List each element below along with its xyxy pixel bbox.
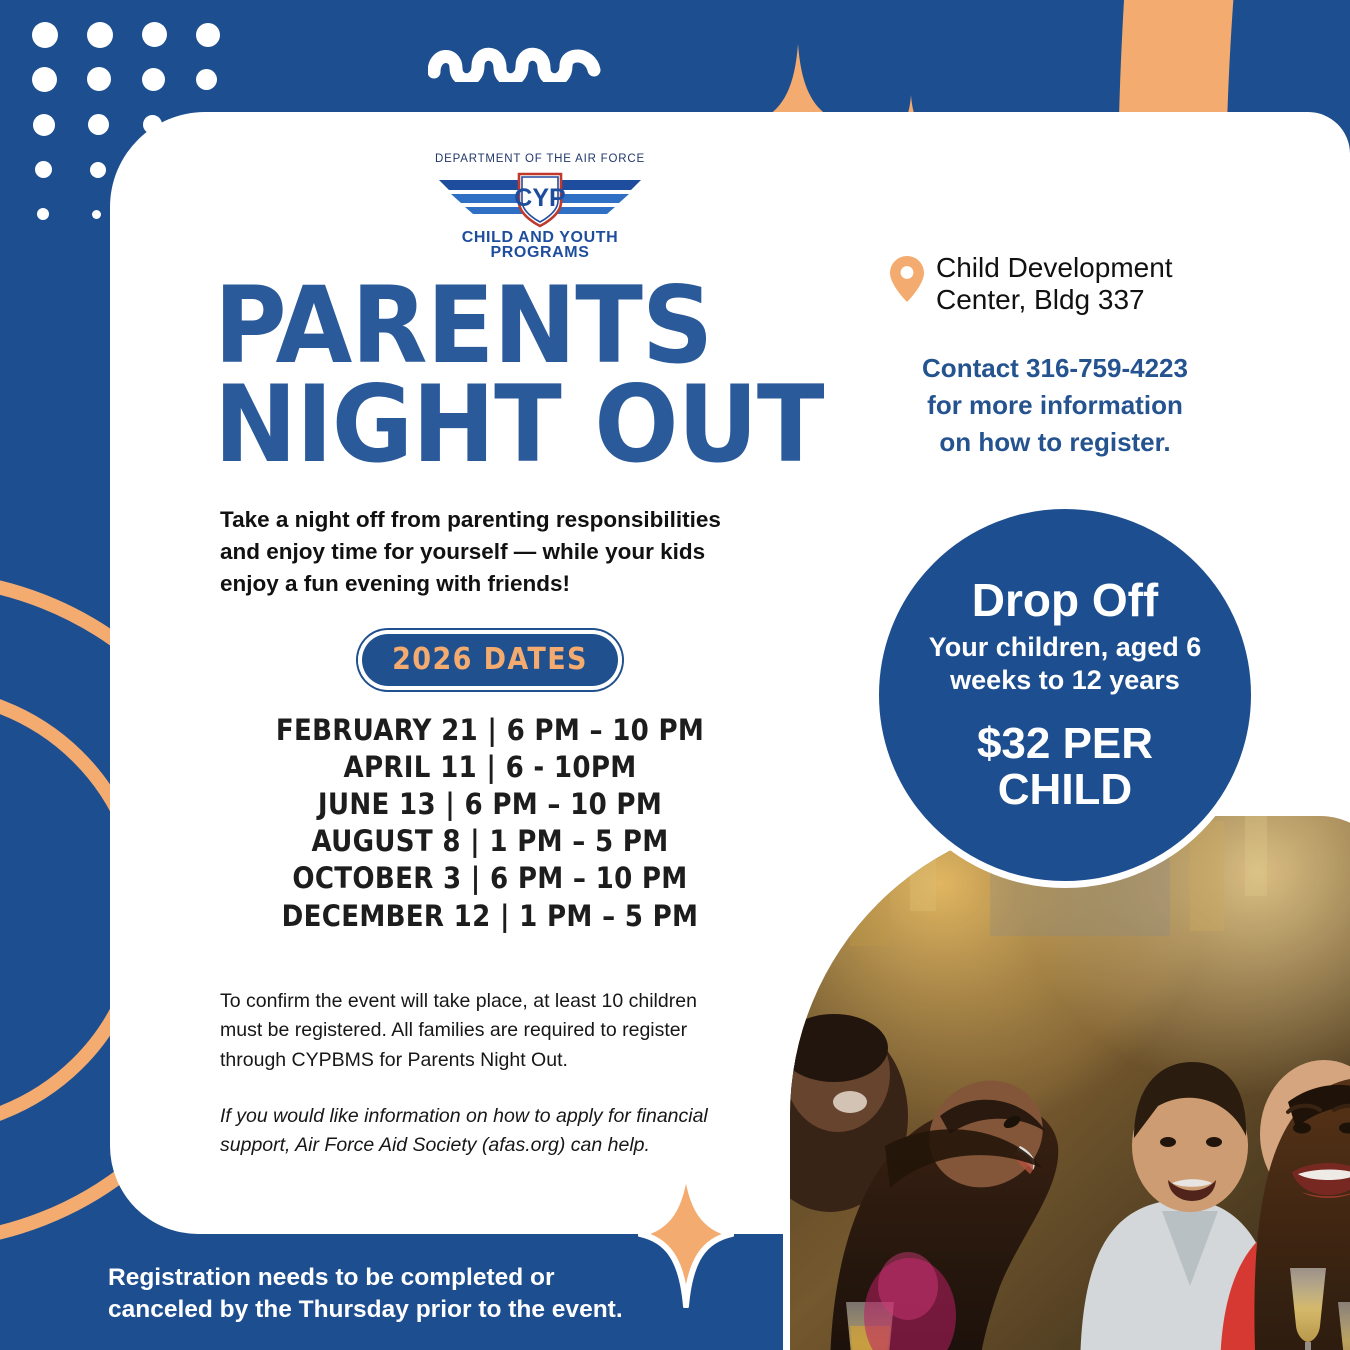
- list-item: FEBRUARY 21 | 6 PM – 10 PM: [210, 712, 770, 749]
- registration-footer: Registration needs to be completed or ca…: [108, 1262, 728, 1326]
- logo-bottom-line-2: PROGRAMS: [490, 244, 589, 258]
- contact-block: Contact 316-759-4223 for more informatio…: [890, 350, 1220, 462]
- logo-monogram: CYP: [514, 184, 565, 212]
- drop-off-title: Drop Off: [972, 577, 1159, 623]
- headline-line-2: NIGHT OUT: [214, 376, 896, 475]
- squiggle-icon: [428, 44, 604, 87]
- list-item: DECEMBER 12 | 1 PM – 5 PM: [210, 898, 770, 935]
- list-item: AUGUST 8 | 1 PM – 5 PM: [210, 823, 770, 860]
- drop-off-badge: Drop Off Your children, aged 6 weeks to …: [872, 502, 1258, 888]
- location-line-2: Center, Bldg 337: [936, 284, 1145, 315]
- confirmation-note: To confirm the event will take place, at…: [220, 987, 740, 1076]
- left-column: DEPARTMENT OF THE AIR FORCE CYP CHILD AN…: [210, 150, 870, 1161]
- financial-support-note: If you would like information on how to …: [220, 1102, 740, 1161]
- drop-off-price-line-2: CHILD: [977, 767, 1153, 813]
- drop-off-subtitle-line-2: weeks to 12 years: [905, 664, 1225, 697]
- page-title: PARENTS NIGHT OUT: [214, 277, 896, 474]
- list-item: OCTOBER 3 | 6 PM – 10 PM: [210, 860, 770, 897]
- list-item: JUNE 13 | 6 PM – 10 PM: [210, 786, 770, 823]
- list-item: APRIL 11 | 6 - 10PM: [210, 749, 770, 786]
- drop-off-price: $32 PER CHILD: [977, 721, 1153, 813]
- dates-badge: 2026 DATES: [362, 634, 618, 686]
- drop-off-price-line-1: $32 PER: [977, 721, 1153, 767]
- location-text: Child Development Center, Bldg 337: [936, 252, 1173, 316]
- footer-line-1: Registration needs to be completed or: [108, 1262, 728, 1294]
- date-list: FEBRUARY 21 | 6 PM – 10 PM APRIL 11 | 6 …: [210, 712, 770, 935]
- intro-paragraph: Take a night off from parenting responsi…: [220, 504, 765, 600]
- logo-top-line: DEPARTMENT OF THE AIR FORCE: [435, 153, 645, 165]
- cyp-logo: DEPARTMENT OF THE AIR FORCE CYP CHILD AN…: [415, 150, 665, 263]
- drop-off-subtitle: Your children, aged 6 weeks to 12 years: [905, 631, 1225, 697]
- location-pin-icon: [890, 256, 924, 307]
- dates-badge-wrap: 2026 DATES: [210, 634, 770, 686]
- location-line-1: Child Development: [936, 252, 1173, 283]
- right-column: Child Development Center, Bldg 337 Conta…: [890, 252, 1260, 461]
- drop-off-subtitle-line-1: Your children, aged 6: [905, 631, 1225, 664]
- location-row: Child Development Center, Bldg 337: [890, 252, 1260, 316]
- contact-line-3: on how to register.: [890, 424, 1220, 461]
- flyer-canvas: DEPARTMENT OF THE AIR FORCE CYP CHILD AN…: [0, 0, 1350, 1350]
- contact-line-2: for more information: [890, 387, 1220, 424]
- contact-line-1: Contact 316-759-4223: [890, 350, 1220, 387]
- footer-line-2: canceled by the Thursday prior to the ev…: [108, 1294, 728, 1326]
